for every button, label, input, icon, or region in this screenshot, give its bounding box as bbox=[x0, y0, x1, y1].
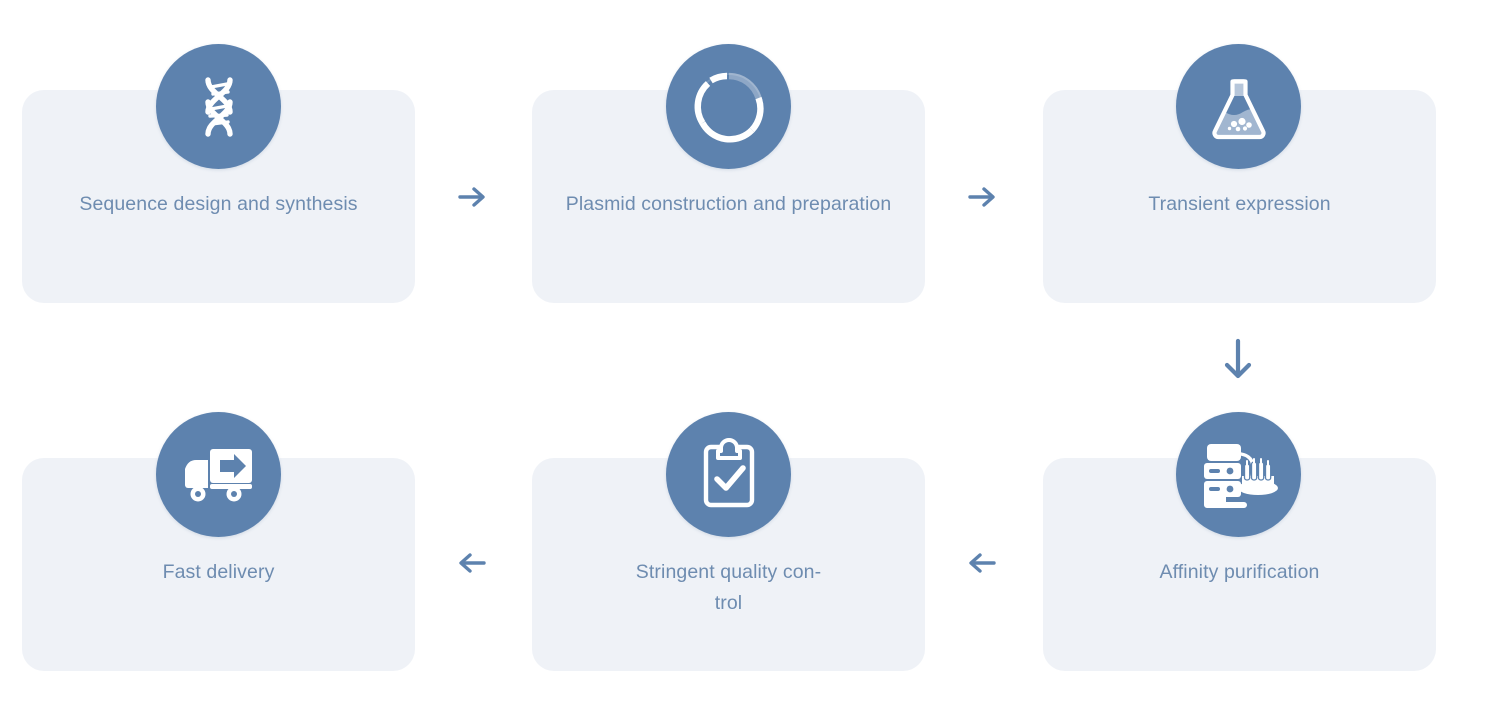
step-label-quality-control: Stringent quality con- trol bbox=[554, 557, 903, 619]
step-icon-bubble-affinity-purification bbox=[1176, 412, 1301, 537]
step-label-plasmid-construction: Plasmid construction and preparation bbox=[554, 189, 903, 220]
connector-arrow-down bbox=[1213, 335, 1263, 385]
plasmid-ring-icon bbox=[686, 64, 772, 150]
step-label-sequence-design: Sequence design and synthesis bbox=[44, 189, 393, 220]
clipboard-check-icon bbox=[695, 438, 763, 512]
dna-helix-icon bbox=[183, 71, 255, 143]
connector-arrow-right-1 bbox=[455, 180, 489, 214]
connector-arrow-left-1 bbox=[965, 546, 999, 580]
step-icon-bubble-plasmid-construction bbox=[666, 44, 791, 169]
step-icon-bubble-transient-expression bbox=[1176, 44, 1301, 169]
step-icon-bubble-fast-delivery bbox=[156, 412, 281, 537]
workflow-diagram: Sequence design and synthesis bbox=[0, 0, 1494, 708]
erlenmeyer-flask-icon bbox=[1201, 69, 1277, 145]
step-icon-bubble-sequence-design bbox=[156, 44, 281, 169]
delivery-truck-icon bbox=[179, 443, 259, 507]
step-label-affinity-purification: Affinity purification bbox=[1065, 557, 1414, 588]
step-icon-bubble-quality-control bbox=[666, 412, 791, 537]
step-label-fast-delivery: Fast delivery bbox=[44, 557, 393, 588]
connector-arrow-right-2 bbox=[965, 180, 999, 214]
chromatography-instrument-icon bbox=[1199, 438, 1279, 512]
step-label-transient-expression: Transient expression bbox=[1065, 189, 1414, 220]
connector-arrow-left-2 bbox=[455, 546, 489, 580]
